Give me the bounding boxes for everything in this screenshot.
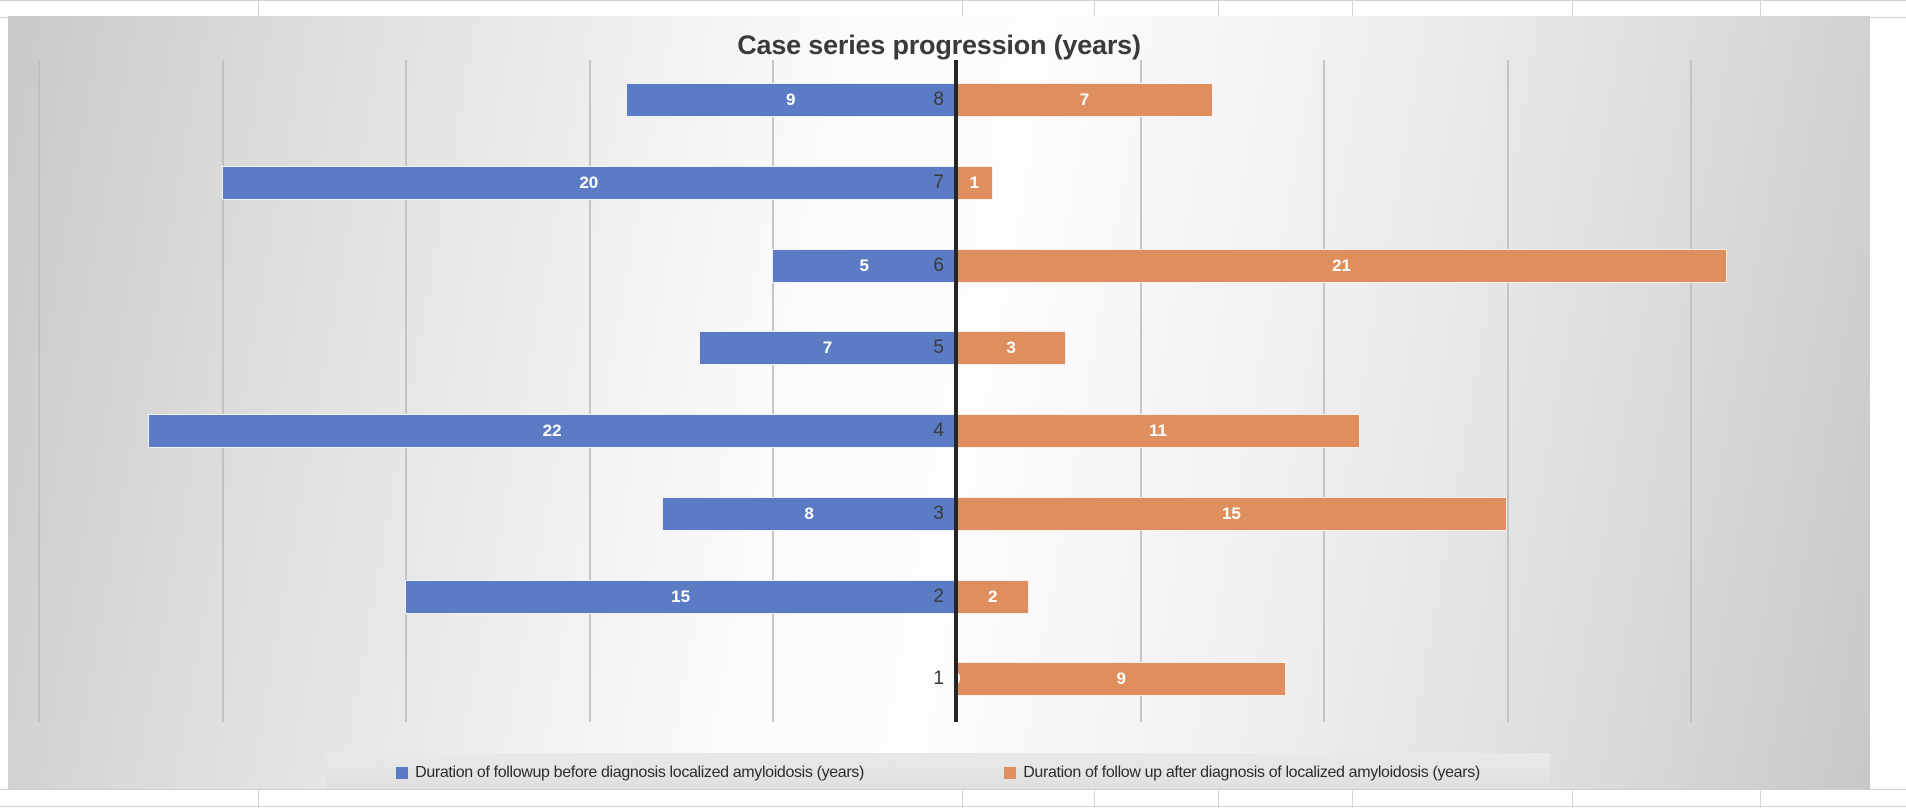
category-axis-label: 5	[836, 331, 944, 365]
category-axis-label: 7	[836, 166, 944, 200]
bar-value-label-after: 9	[956, 662, 1286, 696]
legend-swatch-icon	[396, 767, 408, 779]
category-axis-label: 6	[836, 249, 944, 283]
category-axis-label: 8	[836, 83, 944, 117]
bar-value-label-before: 22	[148, 414, 956, 448]
bar-value-label-after: 2	[956, 580, 1029, 614]
chart-row[interactable]: 091	[30, 639, 1870, 722]
bar-value-label-after: 11	[956, 414, 1360, 448]
chart-row[interactable]: 978	[30, 60, 1870, 143]
chart-object[interactable]: Case series progression (years) 97820175…	[8, 16, 1870, 789]
legend-swatch-icon	[1004, 767, 1016, 779]
bar-value-label-after: 15	[956, 497, 1507, 531]
bar-value-label-after: 7	[956, 83, 1213, 117]
chart-row[interactable]: 5216	[30, 226, 1870, 309]
category-axis-label: 1	[836, 662, 944, 696]
chart-row[interactable]: 2017	[30, 143, 1870, 226]
chart-title: Case series progression (years)	[8, 30, 1870, 61]
category-axis-label: 3	[836, 497, 944, 531]
chart-row[interactable]: 735	[30, 308, 1870, 391]
category-axis-label: 4	[836, 414, 944, 448]
legend-label: Duration of followup before diagnosis lo…	[415, 764, 864, 782]
bar-value-label-after: 1	[956, 166, 993, 200]
legend-label: Duration of follow up after diagnosis of…	[1023, 764, 1480, 782]
category-axis-label: 2	[836, 580, 944, 614]
legend-item-after[interactable]: Duration of follow up after diagnosis of…	[1004, 764, 1480, 782]
sheet-row-border	[0, 806, 1906, 807]
bar-value-label-after: 21	[956, 249, 1727, 283]
chart-row[interactable]: 8153	[30, 474, 1870, 557]
legend-item-before[interactable]: Duration of followup before diagnosis lo…	[396, 764, 864, 782]
chart-legend[interactable]: Duration of followup before diagnosis lo…	[326, 753, 1550, 789]
bar-value-label-after: 3	[956, 331, 1066, 365]
sheet-row-border	[0, 0, 1906, 1]
chart-row[interactable]: 1522	[30, 557, 1870, 640]
plot-area: 978201752167352211481531522091	[30, 60, 1870, 722]
sheet-row-border	[0, 789, 1906, 790]
chart-row[interactable]: 22114	[30, 391, 1870, 474]
value-axis-line	[954, 60, 958, 722]
